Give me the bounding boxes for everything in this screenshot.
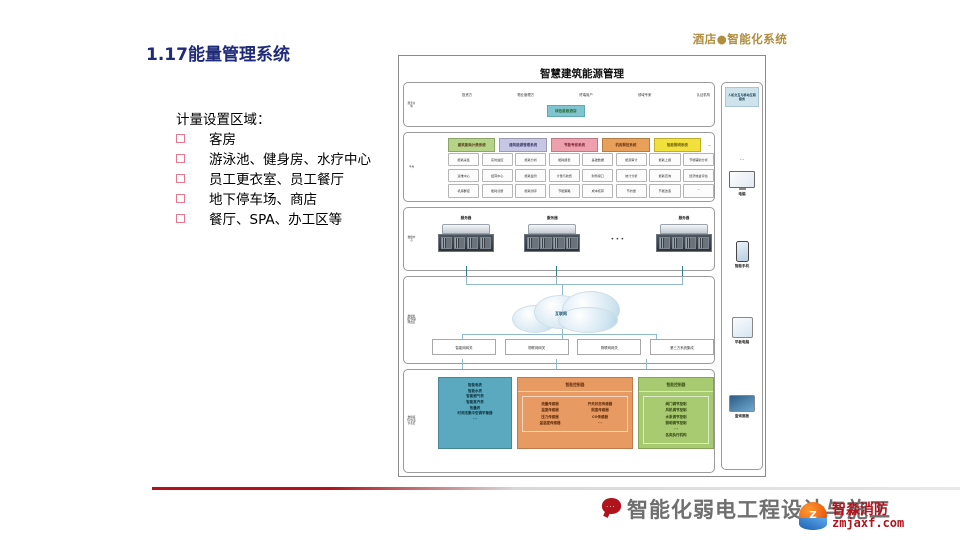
server-chassis-icon bbox=[524, 234, 580, 252]
server-label: 服务器 bbox=[656, 216, 712, 221]
layer-sensing-label: 数据感知/仪表仪表层 bbox=[407, 416, 416, 426]
server-top-icon bbox=[660, 224, 708, 234]
layer-datacenter: 数据中心 服务器 服务器 ••• 服 bbox=[403, 207, 715, 271]
sensors-panel-header: 智能控制器 bbox=[518, 378, 632, 392]
layer-platform: 平台 建筑能耗计费系统 建筑能源管理系统 节能专家系统 机房群控系统 智能照明系… bbox=[403, 132, 715, 202]
sensing-columns: 智能电表 智能水表 智能燃气表 智能蒸汽表 热量表 时间法集中空调平衡器 ···… bbox=[438, 377, 714, 449]
platform-module: 节能辅助分析 bbox=[683, 153, 714, 166]
header-brand: 酒店●智能化系统 bbox=[680, 31, 800, 47]
list-item: 餐厅、SPA、办工区等 bbox=[176, 208, 371, 228]
platform-module: 统计分析 bbox=[616, 169, 647, 182]
platform-modules: 能耗采集 实时监控 能耗分析 能耗报表 基础数据 能源审计 能耗上报 节能辅助分… bbox=[448, 153, 714, 200]
sensors-column-left: 流量传感器 温度传感器 压力传感器 温湿度传感器 bbox=[525, 401, 575, 427]
kiosk-icon bbox=[729, 395, 755, 412]
server-node: 服务器 bbox=[656, 216, 712, 252]
device-smartphone: 智能手机 bbox=[722, 241, 762, 269]
device-computer: 电脑 bbox=[722, 171, 762, 197]
sensor-item: 温湿度传感器 bbox=[525, 420, 575, 426]
bullet-square-icon bbox=[176, 214, 185, 223]
bullet-square-icon bbox=[176, 174, 185, 183]
platform-module: 节约量 bbox=[616, 184, 647, 197]
device-ellipsis: ··· bbox=[722, 157, 762, 163]
service-roles: 投资方 物业管理方 终端用户 领域专家 认证机构 bbox=[462, 92, 710, 97]
connector-line bbox=[466, 284, 683, 285]
platform-module: 能耗采集 bbox=[448, 153, 479, 166]
internet-cloud-icon: 互联网 bbox=[512, 291, 622, 331]
platform-module: 能耗测评 bbox=[515, 184, 546, 197]
platform-module-row: 机房群控 能耗诊断 能耗测评 节能策略 成本核算 节约量 节能改造 ··· bbox=[448, 184, 714, 197]
device-column-header: 人机交互与移动互联服务 bbox=[725, 87, 759, 107]
green-hotel-badge: 绿色星级酒店 bbox=[547, 105, 585, 117]
device-label: 查询面板 bbox=[722, 414, 762, 419]
internet-cloud-label: 互联网 bbox=[512, 311, 610, 317]
platform-module: ··· bbox=[683, 184, 714, 197]
gateway-row: 智能网网关 物联网网关 物联网网关 第三方系统集成 bbox=[432, 339, 714, 355]
service-role: 认证机构 bbox=[696, 92, 710, 97]
service-role: 投资方 bbox=[462, 92, 472, 97]
list-item-label: 员工更衣室、员工餐厅 bbox=[209, 168, 344, 188]
layer-network-label: 数据处理/传输网络层 bbox=[407, 315, 416, 325]
list-item-label: 游泳池、健身房、水疗中心 bbox=[209, 148, 371, 168]
platform-system: 建筑能源管理系统 bbox=[499, 138, 546, 152]
platform-module: 机房群控 bbox=[448, 184, 479, 197]
layer-network: 数据处理/传输网络层 互联网 智能网网关 物联网网关 物联网网关 第三方系统集成 bbox=[403, 276, 715, 364]
platform-system: 机房群控系统 bbox=[602, 138, 649, 152]
connector-line bbox=[682, 277, 683, 285]
brand-domain: zmjaxf.com bbox=[832, 516, 904, 530]
layer-platform-label: 平台 bbox=[407, 165, 416, 168]
actuator-item: 各类执行机构 bbox=[646, 432, 706, 438]
bullet-heading: 计量设置区域： bbox=[176, 108, 271, 128]
connector-line bbox=[556, 277, 557, 285]
sensors-column-right: 开关状态传感器 照度传感器 CO传感器 ··· bbox=[575, 401, 625, 427]
list-item-label: 地下停车场、商店 bbox=[209, 188, 317, 208]
platform-module: 能耗报表 bbox=[549, 153, 580, 166]
server-label: 服务器 bbox=[438, 216, 494, 221]
platform-module: 能耗分析 bbox=[515, 153, 546, 166]
platform-module: 节能改造 bbox=[649, 184, 680, 197]
platform-module: 能源审计 bbox=[616, 153, 647, 166]
service-role: 终端用户 bbox=[579, 92, 593, 97]
bullet-square-icon bbox=[176, 154, 185, 163]
list-item: 地下停车场、商店 bbox=[176, 188, 371, 208]
list-item: 员工更衣室、员工餐厅 bbox=[176, 168, 371, 188]
platform-module: 成本核算 bbox=[582, 184, 613, 197]
platform-module: 能耗诊断 bbox=[482, 184, 513, 197]
diagram-title: 智慧建筑能源管理 bbox=[399, 66, 765, 81]
platform-system: 建筑能耗计费系统 bbox=[448, 138, 495, 152]
platform-system: 节能专家系统 bbox=[551, 138, 598, 152]
platform-module: 能耗上报 bbox=[649, 153, 680, 166]
server-chassis-icon bbox=[656, 234, 712, 252]
list-item: 客房 bbox=[176, 128, 371, 148]
brand-logo-wave-icon bbox=[799, 518, 827, 530]
server-top-icon bbox=[528, 224, 576, 234]
device-kiosk: 查询面板 bbox=[722, 395, 762, 419]
actuators-panel: 智能控制器 阀门调节控制 风机调节控制 水泵调节控制 照明调节控制 ··· 各类… bbox=[638, 377, 714, 449]
smart-meters-panel: 智能电表 智能水表 智能燃气表 智能蒸汽表 热量表 时间法集中空调平衡器 ··· bbox=[438, 377, 512, 449]
server-node: 服务器 bbox=[524, 216, 580, 252]
actuators-list: 阀门调节控制 风机调节控制 水泵调节控制 照明调节控制 ··· 各类执行机构 bbox=[643, 396, 709, 444]
platform-systems: 建筑能耗计费系统 建筑能源管理系统 节能专家系统 机房群控系统 智能照明系统 ·… bbox=[448, 138, 714, 152]
layer-service-label: 服务对象 bbox=[407, 101, 416, 107]
device-tablet: 平板电脑 bbox=[722, 317, 762, 345]
meter-ellipsis: ··· bbox=[439, 417, 511, 423]
device-label: 电脑 bbox=[722, 192, 762, 197]
bullet-square-icon bbox=[176, 194, 185, 203]
page-title: 1.17能量管理系统 bbox=[146, 40, 290, 65]
platform-module-row: 运维中心 结算中心 能耗监管 计量与收费 财务接口 统计分析 能耗查询 经济效益… bbox=[448, 169, 714, 182]
gateway-node: 物联网网关 bbox=[505, 339, 569, 355]
device-label: 平板电脑 bbox=[722, 340, 762, 345]
monitor-icon bbox=[729, 171, 755, 188]
service-role: 领域专家 bbox=[638, 92, 652, 97]
server-top-icon bbox=[442, 224, 490, 234]
sensors-list: 流量传感器 温度传感器 压力传感器 温湿度传感器 开关状态传感器 照度传感器 C… bbox=[522, 396, 628, 432]
actuators-panel-header: 智能控制器 bbox=[639, 378, 713, 392]
diagram-layers: 服务对象 投资方 物业管理方 终端用户 领域专家 认证机构 绿色星级酒店 平台 … bbox=[403, 82, 715, 478]
bullet-square-icon bbox=[176, 134, 185, 143]
list-item-label: 客房 bbox=[209, 128, 236, 148]
platform-module: 财务接口 bbox=[582, 169, 613, 182]
monitor-stand-icon bbox=[739, 188, 746, 190]
platform-module-row: 能耗采集 实时监控 能耗分析 能耗报表 基础数据 能源审计 能耗上报 节能辅助分… bbox=[448, 153, 714, 166]
device-label: 智能手机 bbox=[722, 264, 762, 269]
server-label: 服务器 bbox=[524, 216, 580, 221]
platform-module: 实时监控 bbox=[482, 153, 513, 166]
list-item-label: 餐厅、SPA、办工区等 bbox=[209, 208, 342, 228]
platform-module: 结算中心 bbox=[482, 169, 513, 182]
server-chassis-icon bbox=[438, 234, 494, 252]
platform-module: 基础数据 bbox=[582, 153, 613, 166]
device-column: 人机交互与移动互联服务 电脑 ··· 智能手机 平板电脑 查询面板 bbox=[721, 82, 763, 470]
smartphone-icon bbox=[736, 241, 749, 262]
layer-datacenter-label: 数据中心 bbox=[407, 236, 416, 242]
wechat-icon-dots: ··· bbox=[606, 503, 616, 511]
platform-more-ellipsis: ··· bbox=[705, 143, 714, 148]
platform-system: 智能照明系统 bbox=[654, 138, 701, 152]
connector-line bbox=[462, 334, 657, 335]
third-party-integration-node: 第三方系统集成 bbox=[650, 339, 714, 355]
tablet-icon bbox=[732, 317, 753, 338]
sensors-panel: 智能控制器 流量传感器 温度传感器 压力传感器 温湿度传感器 开关状态传感器 照… bbox=[517, 377, 633, 449]
layer-service: 服务对象 投资方 物业管理方 终端用户 领域专家 认证机构 绿色星级酒店 bbox=[403, 82, 715, 127]
layer-sensing: 数据感知/仪表仪表层 智能电表 智能水表 智能燃气表 智能蒸汽表 热量表 时间法… bbox=[403, 369, 715, 473]
server-group: 服务器 服务器 ••• 服务器 bbox=[438, 216, 712, 252]
sensor-ellipsis: ··· bbox=[575, 420, 625, 426]
footer-divider bbox=[152, 487, 960, 490]
platform-module: 能耗监管 bbox=[515, 169, 546, 182]
platform-module: 运维中心 bbox=[448, 169, 479, 182]
bullet-list: 客房 游泳池、健身房、水疗中心 员工更衣室、员工餐厅 地下停车场、商店 餐厅、S… bbox=[176, 128, 371, 228]
platform-module: 计量与收费 bbox=[549, 169, 580, 182]
server-ellipsis: ••• bbox=[611, 236, 626, 252]
platform-module: 经济效益评估 bbox=[683, 169, 714, 182]
platform-module: 节能策略 bbox=[549, 184, 580, 197]
service-role: 物业管理方 bbox=[517, 92, 534, 97]
server-node: 服务器 bbox=[438, 216, 494, 252]
gateway-node: 物联网网关 bbox=[577, 339, 641, 355]
gateway-node: 智能网网关 bbox=[432, 339, 496, 355]
list-item: 游泳池、健身房、水疗中心 bbox=[176, 148, 371, 168]
platform-module: 能耗查询 bbox=[649, 169, 680, 182]
architecture-diagram: 智慧建筑能源管理 服务对象 投资方 物业管理方 终端用户 领域专家 认证机构 绿… bbox=[398, 55, 766, 477]
